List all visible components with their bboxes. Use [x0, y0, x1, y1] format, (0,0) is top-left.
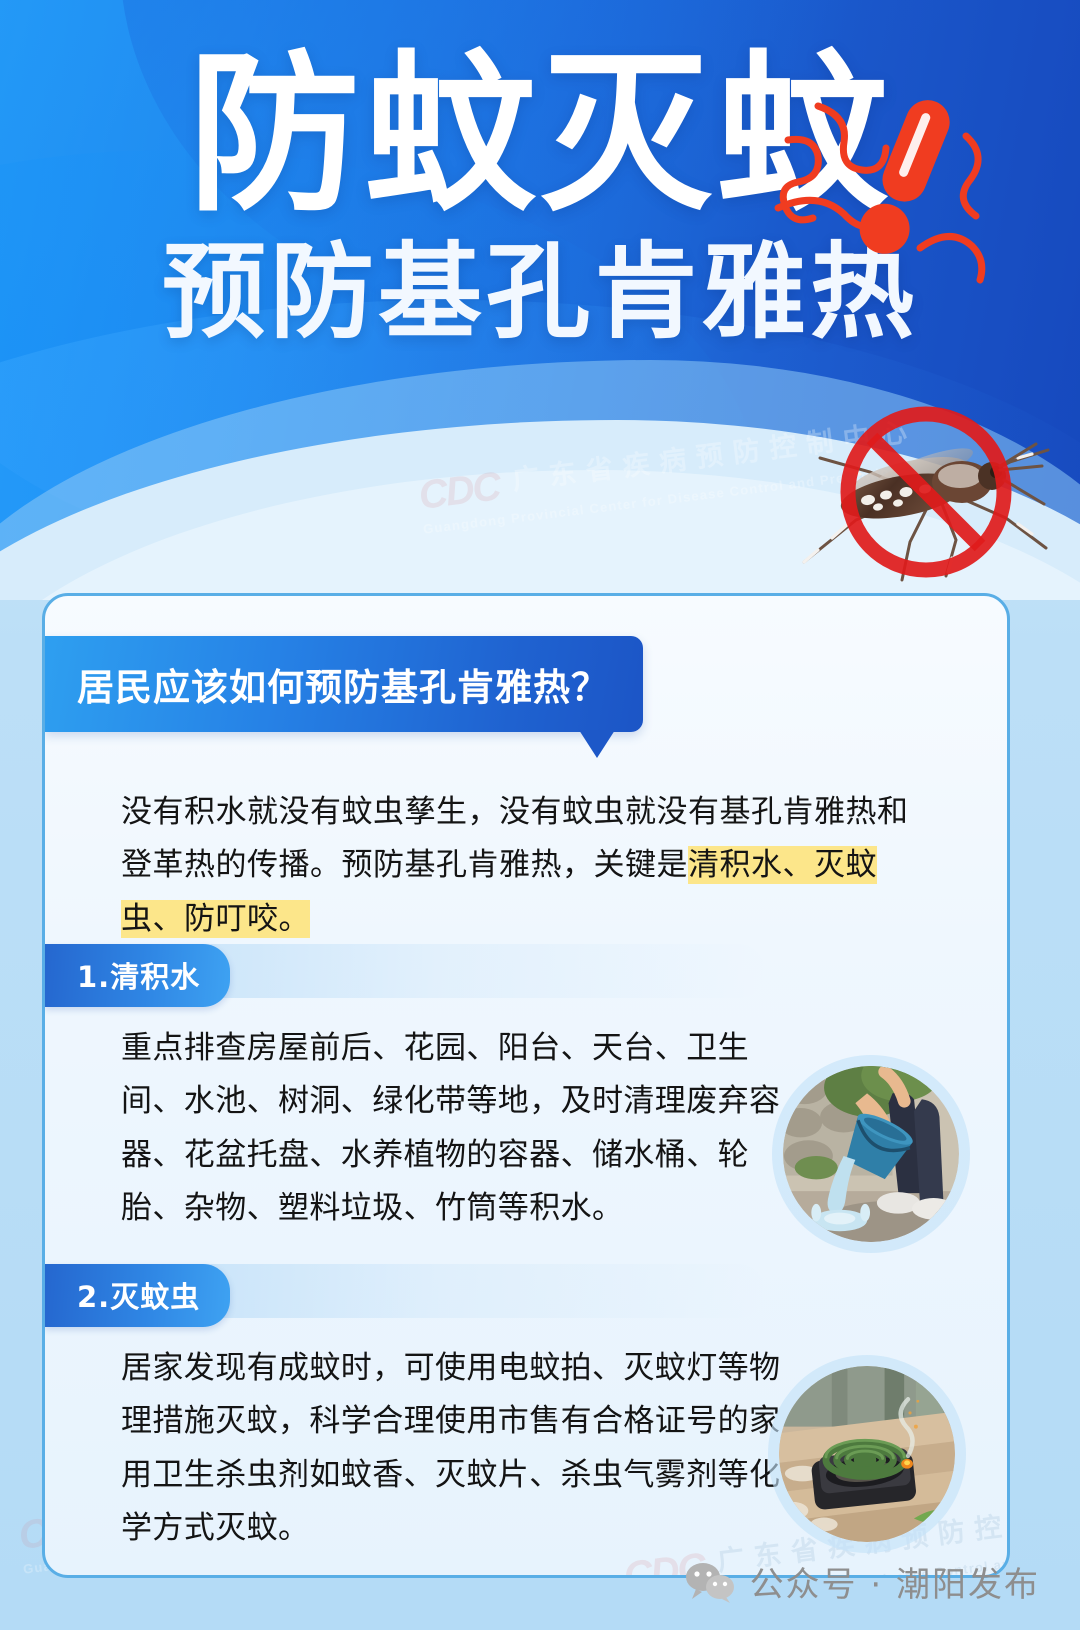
mosquito-coil-photo: [779, 1366, 955, 1542]
section-badge: 1.清积水: [45, 944, 230, 1007]
poster-page: CDC广东省疾病预防控制中心 Guangdong Provincial Cent…: [0, 0, 1080, 1630]
content-card: CDC广东省疾病预防控制中心 Guangdong Provincial Cent…: [42, 593, 1010, 1578]
section-text: 重点排查房屋前后、花园、阳台、天台、卫生间、水池、树洞、绿化带等地，及时清理废弃…: [121, 1022, 811, 1235]
section-body: 居家发现有成蚊时，可使用电蚊拍、灭蚊灯等物理措施灭蚊，科学合理使用市售有合格证号…: [45, 1342, 1010, 1555]
wechat-icon: [684, 1561, 736, 1603]
section-kill-mosquitoes: 2.灭蚊虫 居家发现有成蚊时，可使用电蚊拍、灭蚊灯等物理措施灭蚊，科学合理使用市…: [45, 1264, 1010, 1555]
footer-account-name: 公众号 · 潮阳发布: [750, 1557, 1040, 1606]
section-body: 重点排查房屋前后、花园、阳台、天台、卫生间、水池、树洞、绿化带等地，及时清理废弃…: [45, 1022, 1010, 1235]
section-badge: 2.灭蚊虫: [45, 1264, 230, 1327]
section-text: 居家发现有成蚊时，可使用电蚊拍、灭蚊灯等物理措施灭蚊，科学合理使用市售有合格证号…: [121, 1342, 811, 1555]
question-banner: 居民应该如何预防基孔肯雅热？: [45, 636, 643, 732]
section-header: 2.灭蚊虫: [45, 1264, 1010, 1318]
question-banner-wrap: 居民应该如何预防基孔肯雅热？: [45, 636, 643, 732]
footer-account: 公众号 · 潮阳发布: [684, 1557, 1040, 1606]
section-clear-water: 1.清积水 重点排查房屋前后、花园、阳台、天台、卫生间、水池、树洞、绿化带等地，…: [45, 944, 1010, 1235]
section-badge-label: 1.清积水: [77, 960, 200, 994]
exclamation-burst-icon: [770, 80, 990, 300]
section-badge-label: 2.灭蚊虫: [77, 1280, 200, 1314]
pouring-water-bucket-photo: [783, 1066, 959, 1242]
mosquito-prohibited-icon: [760, 400, 1060, 590]
section-header: 1.清积水: [45, 944, 1010, 998]
intro-paragraph: 没有积水就没有蚊虫孳生，没有蚊虫就没有基孔肯雅热和登革热的传播。预防基孔肯雅热，…: [121, 786, 933, 946]
banner-tail-icon: [579, 730, 615, 758]
question-text: 居民应该如何预防基孔肯雅热？: [77, 657, 609, 711]
